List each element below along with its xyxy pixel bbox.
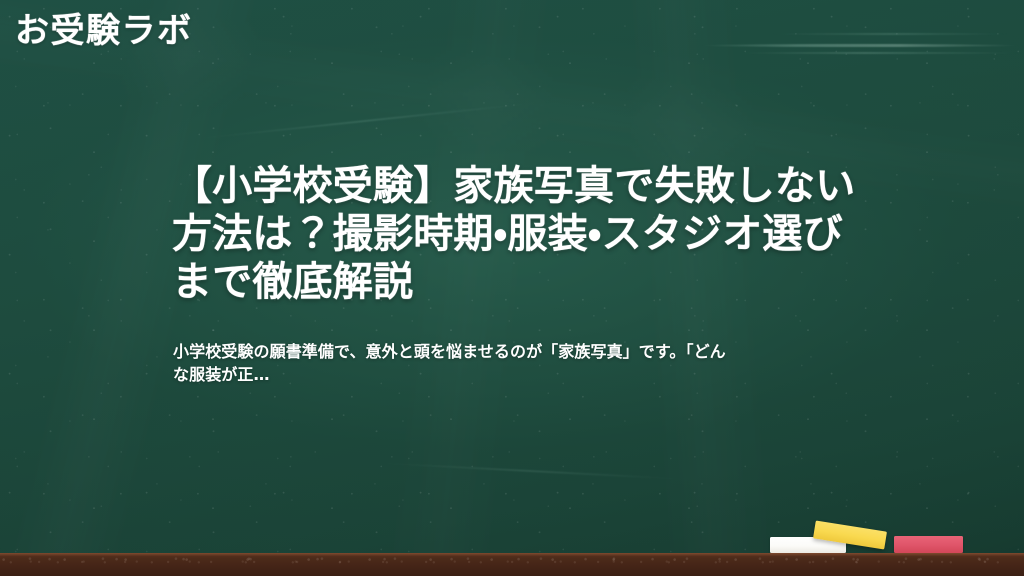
page-title: 【小学校受験】家族写真で失敗しない方法は？撮影時期・服装・スタジオ選びまで徹底解… — [172, 162, 868, 306]
article-excerpt: 小学校受験の願書準備で、意外と頭を悩ませるのが「家族写真」です。「どんな服装が正… — [173, 340, 733, 386]
chalk-tray-dust — [0, 556, 1024, 565]
chalk-tray — [0, 553, 1024, 576]
red-chalk-icon — [894, 536, 963, 553]
blog-thumbnail-card: お受験ラボ 【小学校受験】家族写真で失敗しない方法は？撮影時期・服装・スタジオ選… — [0, 0, 1024, 576]
site-logo[interactable]: お受験ラボ — [15, 11, 193, 51]
title-block: 【小学校受験】家族写真で失敗しない方法は？撮影時期・服装・スタジオ選びまで徹底解… — [172, 162, 868, 306]
